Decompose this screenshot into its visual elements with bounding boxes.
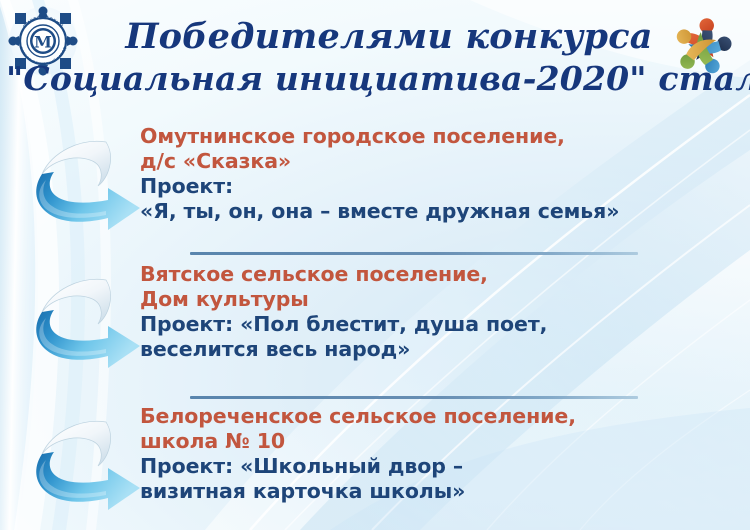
- organization-line: школа № 10: [140, 429, 730, 454]
- company-logo: ОМУТНИНСКИЙ МЕТАЛЛУРГИЧЕСКИЙ ЗАВОД М: [6, 4, 80, 78]
- organization-line: Омутнинское городское поселение,: [140, 124, 730, 149]
- winner-entry-3: Белореченское сельское поселение, школа …: [28, 404, 728, 524]
- logo-center-letter: М: [34, 33, 52, 52]
- project-line: «Я, ты, он, она – вместе дружная семья»: [140, 199, 730, 224]
- curved-ribbon-arrow-icon: [28, 136, 146, 234]
- project-line: Проект:: [140, 174, 730, 199]
- project-line: веселится весь народ»: [140, 337, 730, 362]
- winner-entry-1-text: Омутнинское городское поселение, д/с «Ск…: [140, 124, 730, 224]
- curved-ribbon-arrow-icon: [28, 274, 146, 372]
- section-divider-2: [190, 396, 638, 399]
- organization-line: д/с «Сказка»: [140, 149, 730, 174]
- winner-entry-3-text: Белореченское сельское поселение, школа …: [140, 404, 730, 504]
- organization-line: Вятское сельское поселение,: [140, 262, 730, 287]
- presentation-slide: ОМУТНИНСКИЙ МЕТАЛЛУРГИЧЕСКИЙ ЗАВОД М: [0, 0, 750, 530]
- curved-ribbon-arrow-icon: [28, 416, 146, 514]
- project-line: Проект: «Пол блестит, душа поет,: [140, 312, 730, 337]
- organization-line: Белореченское сельское поселение,: [140, 404, 730, 429]
- winner-entry-1: Омутнинское городское поселение, д/с «Ск…: [28, 124, 728, 244]
- winner-entry-2-text: Вятское сельское поселение, Дом культуры…: [140, 262, 730, 362]
- project-line: Проект: «Школьный двор –: [140, 454, 730, 479]
- people-pinwheel-emblem: [660, 2, 746, 88]
- winner-entry-2: Вятское сельское поселение, Дом культуры…: [28, 262, 728, 382]
- organization-line: Дом культуры: [140, 287, 730, 312]
- section-divider-1: [190, 252, 638, 255]
- project-line: визитная карточка школы»: [140, 479, 730, 504]
